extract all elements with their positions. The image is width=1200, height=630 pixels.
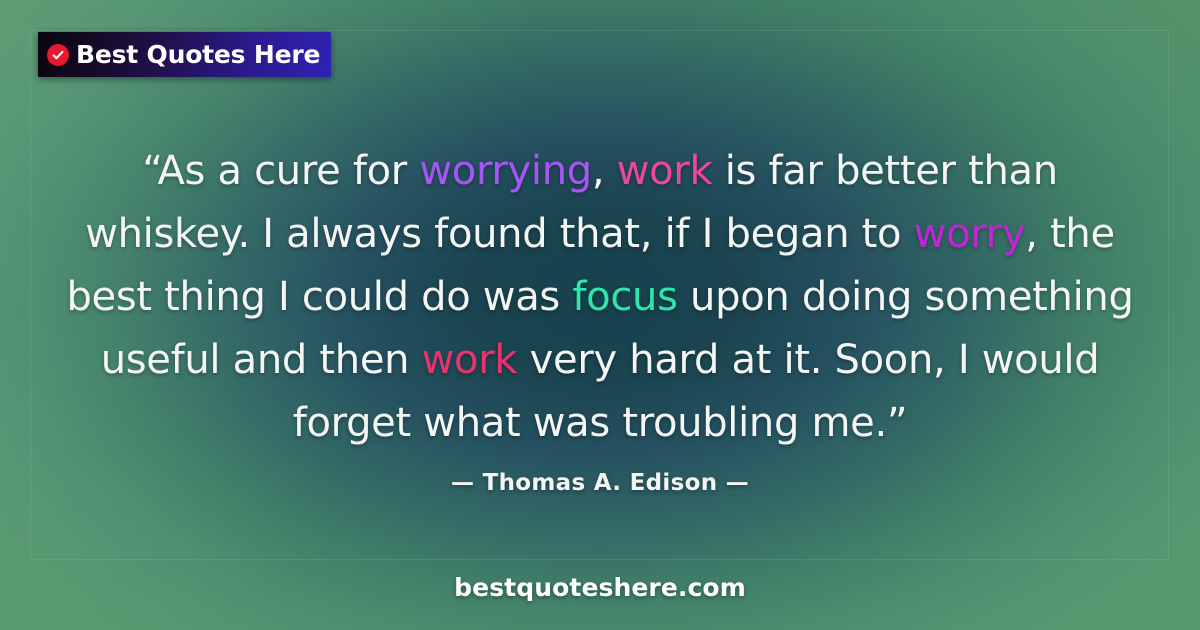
check-circle-icon <box>47 44 69 66</box>
brand-logo-badge[interactable]: Best Quotes Here <box>38 32 331 77</box>
quote-line: best thing I could do was focus upon doi… <box>0 266 1200 329</box>
quote-segment: upon doing something <box>678 274 1134 320</box>
quote-text-block: “As a cure for worrying, work is far bet… <box>0 140 1200 455</box>
quote-segment: useful and then <box>101 337 422 383</box>
quote-segment: is far better than <box>712 148 1057 194</box>
quote-line: useful and then work very hard at it. So… <box>0 329 1200 392</box>
quote-segment: whiskey. I always found that, if I began… <box>85 211 913 257</box>
quote-line: whiskey. I always found that, if I began… <box>0 203 1200 266</box>
quote-line: “As a cure for worrying, work is far bet… <box>0 140 1200 203</box>
footer-website-url: bestquoteshere.com <box>0 573 1200 602</box>
quote-segment: work <box>617 148 713 194</box>
quote-segment: focus <box>572 274 677 320</box>
quote-line: forget what was troubling me.” <box>0 392 1200 455</box>
quote-segment: work <box>422 337 518 383</box>
quote-segment: forget what was troubling me.” <box>293 400 908 446</box>
quote-segment: worry <box>914 211 1026 257</box>
brand-logo-label: Best Quotes Here <box>76 42 320 67</box>
quote-card: Best Quotes Here “As a cure for worrying… <box>0 0 1200 630</box>
quote-segment: , <box>592 148 617 194</box>
quote-segment: “As a cure for <box>142 148 419 194</box>
quote-attribution: — Thomas A. Edison — <box>0 470 1200 496</box>
quote-segment: very hard at it. Soon, I would <box>517 337 1099 383</box>
quote-segment: , the <box>1025 211 1115 257</box>
quote-segment: best thing I could do was <box>66 274 572 320</box>
quote-segment: worrying <box>419 148 592 194</box>
